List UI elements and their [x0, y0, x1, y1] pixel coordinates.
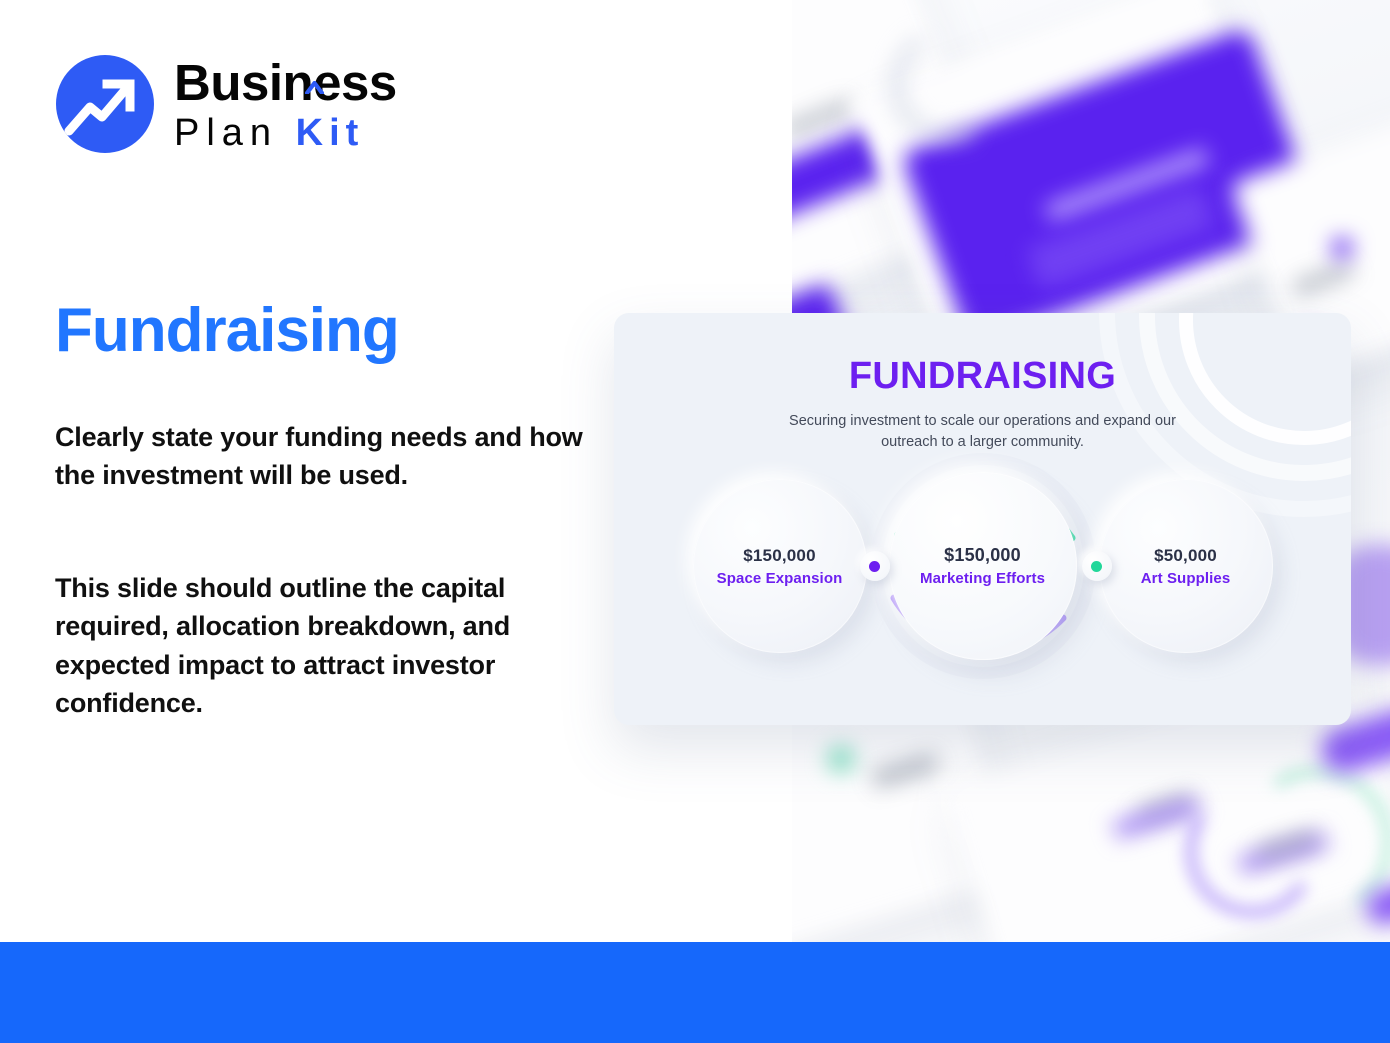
- brand-logo: Business Plan Kit: [56, 55, 397, 153]
- chevron-accent-icon: [305, 51, 324, 64]
- funding-item-marketing-efforts[interactable]: $150,000 Marketing Efforts: [889, 472, 1077, 660]
- description-paragraph-1: Clearly state your funding needs and how…: [55, 418, 595, 495]
- slide-root: Business Plan Kit Fundraising Clearly st…: [0, 0, 1390, 1043]
- bg-deck-right-dot: [1332, 238, 1352, 258]
- brand-name-line1: Business: [174, 57, 397, 108]
- funding-item-marketing-efforts-wrapper: $150,000 Marketing Efforts: [867, 450, 1099, 682]
- funding-amount: $150,000: [944, 545, 1021, 566]
- connector-node-left: [860, 551, 890, 581]
- slide-subtitle: Securing investment to scale our operati…: [773, 411, 1193, 453]
- growth-arrow-icon: [56, 55, 154, 153]
- page-title: Fundraising: [55, 298, 399, 363]
- brand-name-kit: Kit: [296, 112, 365, 154]
- funding-item-art-supplies[interactable]: $50,000 Art Supplies: [1099, 479, 1273, 653]
- description-paragraph-2: This slide should outline the capital re…: [55, 569, 600, 722]
- bg-deck-lower-green-dot: [828, 746, 854, 772]
- funding-label: Marketing Efforts: [920, 570, 1045, 587]
- brand-wordmark: Business Plan Kit: [174, 57, 397, 152]
- connector-dot-purple-icon: [869, 561, 880, 572]
- footer-bar: [0, 942, 1390, 1043]
- funding-label: Art Supplies: [1141, 570, 1231, 587]
- funding-breakdown-diagram: $150,000 Space Expansion: [693, 451, 1273, 681]
- brand-name-business: Business: [174, 54, 397, 111]
- slide-preview-card[interactable]: FUNDRAISING Securing investment to scale…: [614, 313, 1351, 725]
- brand-name-plan: Plan: [174, 112, 278, 154]
- funding-label: Space Expansion: [717, 570, 843, 587]
- connector-node-right: [1082, 551, 1112, 581]
- funding-amount: $150,000: [743, 546, 816, 566]
- connector-dot-green-icon: [1091, 561, 1102, 572]
- funding-item-space-expansion[interactable]: $150,000 Space Expansion: [693, 479, 867, 653]
- funding-amount: $50,000: [1154, 546, 1217, 566]
- slide-title: FUNDRAISING: [614, 355, 1351, 398]
- brand-name-line2: Plan Kit: [174, 114, 397, 152]
